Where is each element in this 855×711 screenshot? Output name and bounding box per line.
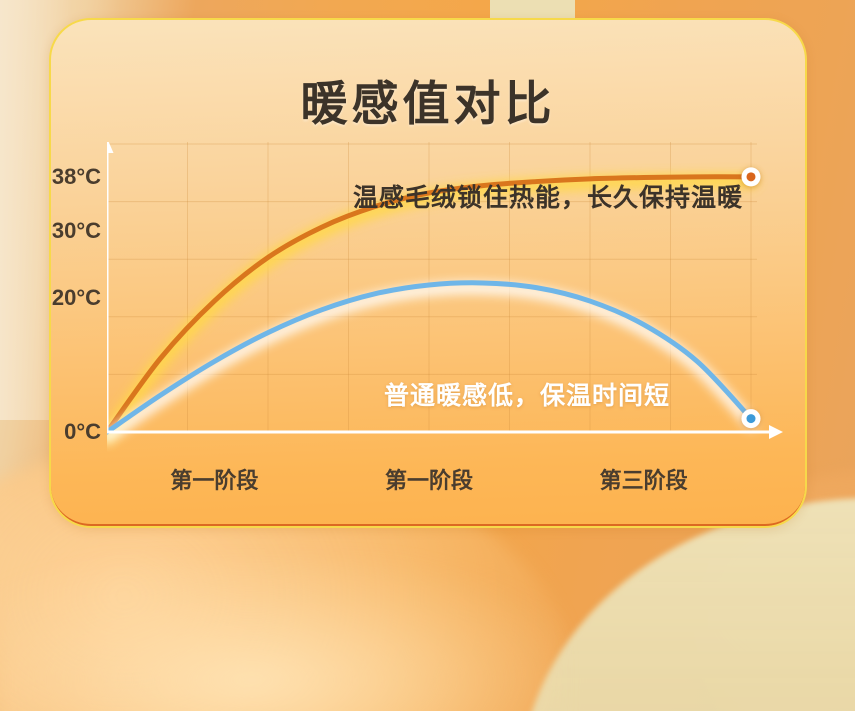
x-axis-tick-1: 第一阶段 [385,463,473,495]
y-axis-tick-2: 30°C [52,218,101,244]
x-axis-tick-labels: 第一阶段第一阶段第三阶段 [107,463,787,493]
series-endpoint-marker-0 [742,167,761,186]
y-axis-tick-labels: 0°C20°C30°C38°C [51,142,107,452]
annotation-normal-series: 普通暖感低，保温时间短 [384,376,670,412]
y-axis-tick-1: 20°C [52,285,101,311]
y-axis-tick-3: 38°C [52,164,101,190]
x-axis-tick-0: 第一阶段 [170,463,258,495]
x-axis-tick-2: 第三阶段 [600,463,688,495]
annotation-warm-series: 温感毛绒锁住热能，长久保持温暖 [353,178,743,214]
y-axis-tick-0: 0°C [64,419,101,445]
page-title: 暖感值对比 [51,65,805,134]
comparison-card: 暖感值对比 0°C20°C30°C38°C 第一阶段第一阶段第三阶段 温感毛绒锁… [49,18,807,528]
screenshot-root: 暖感值对比 0°C20°C30°C38°C 第一阶段第一阶段第三阶段 温感毛绒锁… [0,0,855,711]
background-top-strip [490,0,575,20]
background-bottom-glow [0,560,560,711]
series-endpoint-marker-1 [742,409,761,428]
